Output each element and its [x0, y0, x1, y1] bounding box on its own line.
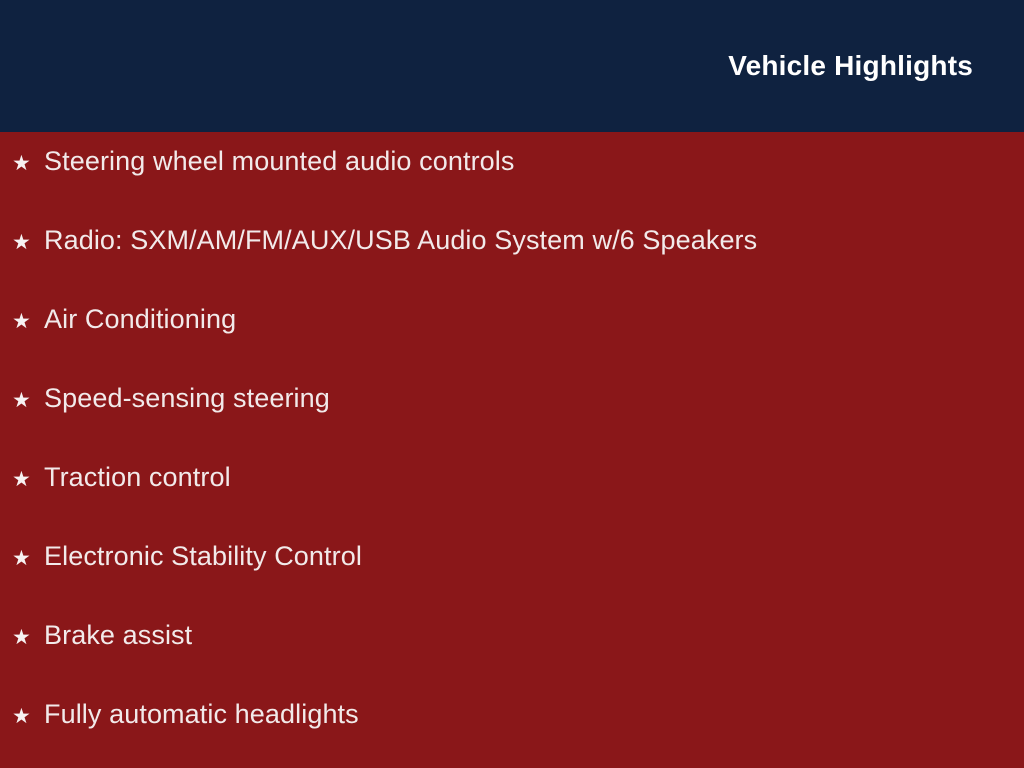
vehicle-highlights-slide: Vehicle Highlights ★ Steering wheel moun…	[0, 0, 1024, 768]
star-bullet-icon: ★	[12, 390, 44, 411]
list-item: ★ Air Conditioning	[0, 306, 1024, 385]
list-item-label: Electronic Stability Control	[44, 543, 362, 570]
list-item: ★ Brake assist	[0, 622, 1024, 701]
star-bullet-icon: ★	[12, 232, 44, 253]
slide-header-band: Vehicle Highlights	[0, 0, 1024, 132]
list-item: ★ Radio: SXM/AM/FM/AUX/USB Audio System …	[0, 227, 1024, 306]
list-item-label: Speed-sensing steering	[44, 385, 330, 412]
list-item: ★ Electronic Stability Control	[0, 543, 1024, 622]
list-item: ★ Traction control	[0, 464, 1024, 543]
list-item-label: Traction control	[44, 464, 231, 491]
list-item-label: Steering wheel mounted audio controls	[44, 148, 515, 175]
star-bullet-icon: ★	[12, 548, 44, 569]
list-item-label: Radio: SXM/AM/FM/AUX/USB Audio System w/…	[44, 227, 757, 254]
star-bullet-icon: ★	[12, 706, 44, 727]
vehicle-highlights-list: ★ Steering wheel mounted audio controls …	[0, 132, 1024, 768]
star-bullet-icon: ★	[12, 627, 44, 648]
star-bullet-icon: ★	[12, 153, 44, 174]
list-item: ★ Fully automatic headlights	[0, 701, 1024, 768]
page-title: Vehicle Highlights	[728, 52, 1024, 80]
list-item-label: Fully automatic headlights	[44, 701, 359, 728]
list-item-label: Air Conditioning	[44, 306, 236, 333]
star-bullet-icon: ★	[12, 311, 44, 332]
list-item: ★ Speed-sensing steering	[0, 385, 1024, 464]
star-bullet-icon: ★	[12, 469, 44, 490]
list-item-label: Brake assist	[44, 622, 192, 649]
list-item: ★ Steering wheel mounted audio controls	[0, 148, 1024, 227]
